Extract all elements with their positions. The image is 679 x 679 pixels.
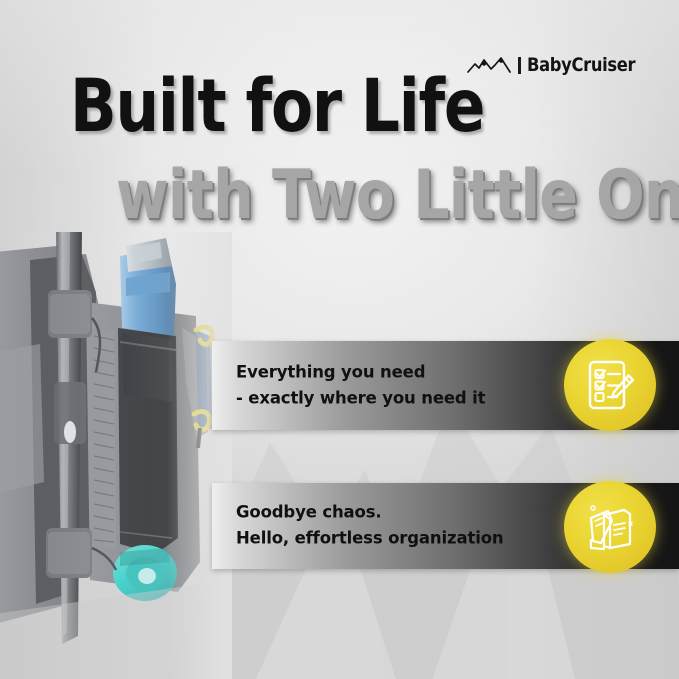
feature-2-line-2: Hello, effortless organization (236, 526, 503, 552)
stroller-organizer-illustration (0, 232, 232, 679)
feature-1-line-1: Everything you need (236, 359, 485, 385)
checklist-pencil-icon (582, 357, 638, 413)
brand-divider (518, 57, 521, 74)
product-photo (0, 232, 232, 679)
feature-text-2: Goodbye chaos. Hello, effortless organiz… (236, 500, 503, 553)
feature-text-1: Everything you need - exactly where you … (236, 359, 485, 412)
brand-logo: BabyCruiser (467, 50, 653, 80)
marketing-poster: Built for Life with Two Little Ones Baby… (0, 0, 679, 679)
document-organizer-icon (582, 499, 638, 555)
mountain-range-icon (467, 55, 511, 75)
feature-2-line-1: Goodbye chaos. (236, 500, 503, 526)
headline-line-2: with Two Little Ones (116, 162, 679, 230)
headline-block: Built for Life with Two Little Ones (0, 54, 679, 244)
feature-badge-2 (564, 481, 656, 573)
brand-name: BabyCruiser (527, 54, 635, 76)
headline-line-1: Built for Life (70, 70, 484, 143)
feature-1-line-2: - exactly where you need it (236, 386, 485, 412)
feature-badge-1 (564, 339, 656, 431)
